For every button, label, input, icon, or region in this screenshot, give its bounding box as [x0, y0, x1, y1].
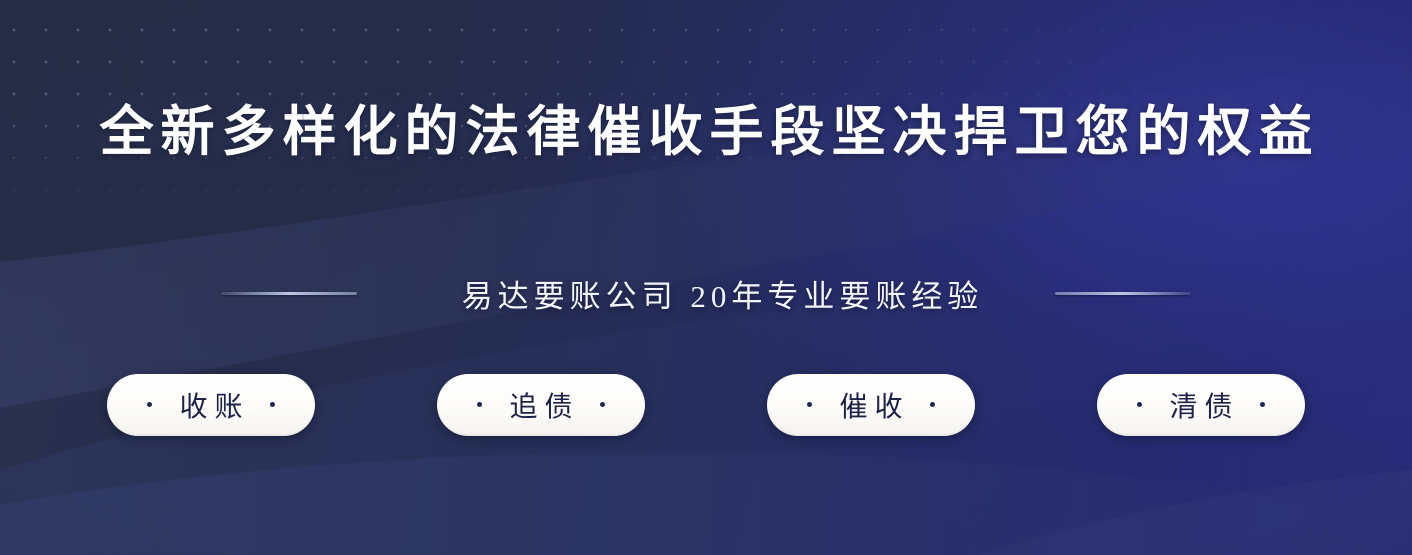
- pill-button-shouzhang[interactable]: 收账: [107, 374, 315, 436]
- bullet-dot-icon: [1260, 402, 1265, 407]
- pill-label: 收账: [172, 385, 249, 425]
- pill-label: 清债: [1162, 385, 1239, 425]
- bullet-dot-icon: [270, 402, 275, 407]
- banner-subtitle: 易达要账公司 20年专业要账经验: [457, 271, 984, 316]
- bullet-dot-icon: [807, 402, 812, 407]
- right-rule-icon: [1055, 292, 1191, 295]
- pill-button-qingzhai[interactable]: 清债: [1097, 374, 1305, 436]
- promo-banner: 全新多样化的法律催收手段坚决捍卫您的权益 易达要账公司 20年专业要账经验 收账…: [0, 0, 1412, 555]
- subtitle-row: 易达要账公司 20年专业要账经验: [0, 271, 1412, 316]
- left-rule-icon: [221, 292, 357, 295]
- pill-label: 追债: [502, 385, 579, 425]
- bullet-dot-icon: [1137, 402, 1142, 407]
- pill-button-zhuizhai[interactable]: 追债: [437, 374, 645, 436]
- bullet-dot-icon: [930, 402, 935, 407]
- service-pill-group: 收账 追债 催收 清债: [107, 374, 1305, 436]
- bullet-dot-icon: [477, 402, 482, 407]
- pill-label: 催收: [832, 385, 909, 425]
- banner-headline: 全新多样化的法律催收手段坚决捍卫您的权益: [93, 104, 1320, 161]
- pill-button-cuishou[interactable]: 催收: [767, 374, 975, 436]
- bullet-dot-icon: [600, 402, 605, 407]
- banner-content: 全新多样化的法律催收手段坚决捍卫您的权益 易达要账公司 20年专业要账经验 收账…: [0, 0, 1412, 555]
- bullet-dot-icon: [147, 402, 152, 407]
